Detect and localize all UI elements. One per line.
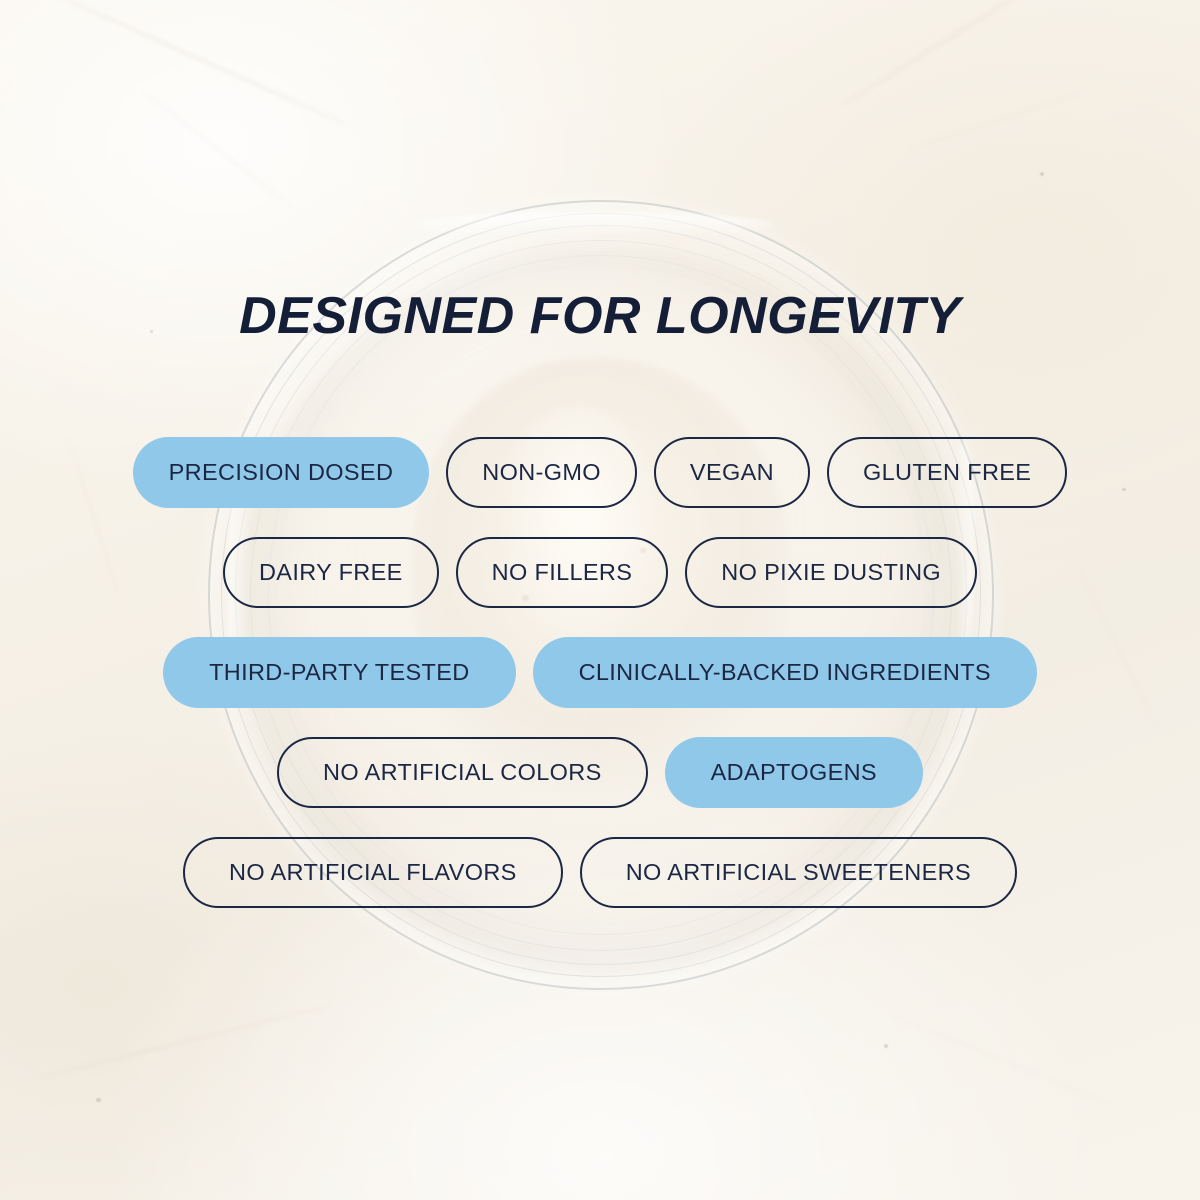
badge-clinically-backed-ingredients[interactable]: CLINICALLY-BACKED INGREDIENTS (533, 637, 1037, 708)
badge-row: NO ARTIFICIAL FLAVORS NO ARTIFICIAL SWEE… (0, 837, 1200, 908)
badge-vegan[interactable]: VEGAN (654, 437, 810, 508)
page-title: DESIGNED FOR LONGEVITY (0, 286, 1200, 346)
badge-precision-dosed[interactable]: PRECISION DOSED (133, 437, 430, 508)
badge-grid: PRECISION DOSED NON-GMO VEGAN GLUTEN FRE… (0, 437, 1200, 937)
badge-no-artificial-colors[interactable]: NO ARTIFICIAL COLORS (277, 737, 648, 808)
badge-no-pixie-dusting[interactable]: NO PIXIE DUSTING (685, 537, 977, 608)
bowl-glint (412, 212, 774, 238)
badge-no-artificial-flavors[interactable]: NO ARTIFICIAL FLAVORS (183, 837, 563, 908)
badge-gluten-free[interactable]: GLUTEN FREE (827, 437, 1067, 508)
marketing-graphic-canvas: DESIGNED FOR LONGEVITY PRECISION DOSED N… (0, 0, 1200, 1200)
badge-third-party-tested[interactable]: THIRD-PARTY TESTED (163, 637, 516, 708)
badge-row: PRECISION DOSED NON-GMO VEGAN GLUTEN FRE… (0, 437, 1200, 508)
badge-row: DAIRY FREE NO FILLERS NO PIXIE DUSTING (0, 537, 1200, 608)
badge-row: THIRD-PARTY TESTED CLINICALLY-BACKED ING… (0, 637, 1200, 708)
badge-dairy-free[interactable]: DAIRY FREE (223, 537, 439, 608)
marble-speck (1040, 172, 1044, 176)
badge-no-fillers[interactable]: NO FILLERS (456, 537, 669, 608)
badge-non-gmo[interactable]: NON-GMO (446, 437, 637, 508)
marble-speck (884, 1044, 888, 1048)
badge-no-artificial-sweeteners[interactable]: NO ARTIFICIAL SWEETENERS (580, 837, 1017, 908)
marble-speck (96, 1098, 101, 1102)
badge-row: NO ARTIFICIAL COLORS ADAPTOGENS (0, 737, 1200, 808)
badge-adaptogens[interactable]: ADAPTOGENS (665, 737, 923, 808)
